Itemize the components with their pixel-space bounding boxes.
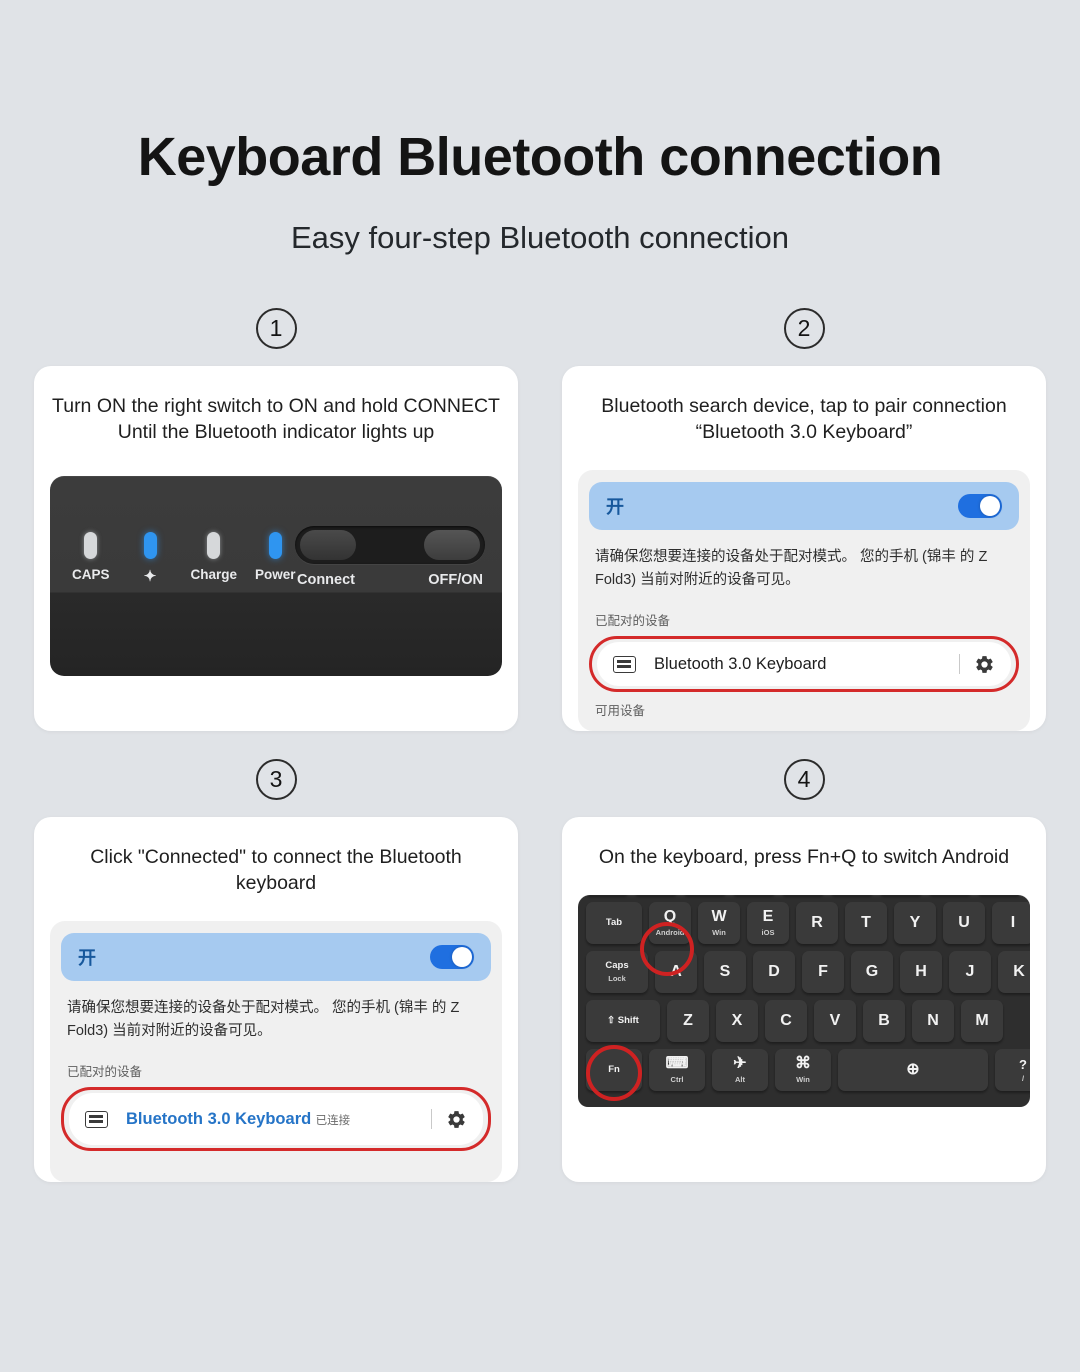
key-z[interactable]: Z xyxy=(667,1000,709,1042)
led-caps-label: CAPS xyxy=(72,567,110,582)
key-glyph: ✈ xyxy=(733,1056,746,1072)
key-q[interactable]: QAndroid xyxy=(649,902,691,944)
key-f[interactable]: F xyxy=(802,951,844,993)
step-card-1: Turn ON the right switch to ON and hold … xyxy=(34,366,518,731)
key-sublabel: iOS xyxy=(762,928,775,937)
key-glyph: I xyxy=(1011,915,1015,931)
led-bluetooth-light xyxy=(144,532,157,559)
key-h[interactable]: H xyxy=(900,951,942,993)
key-glyph: C xyxy=(780,1013,792,1029)
device-status-3: 已连接 xyxy=(316,1115,351,1127)
keyboard-row-zxcv: ⇧ ShiftZXCVBNM xyxy=(586,1000,1030,1042)
key-x[interactable]: X xyxy=(716,1000,758,1042)
key-glyph: Fn xyxy=(608,1065,620,1075)
step-2: 2 Bluetooth search device, tap to pair c… xyxy=(562,308,1046,731)
bluetooth-toggle-2[interactable] xyxy=(958,494,1002,518)
led-power: Power xyxy=(255,532,296,582)
key-glyph: Y xyxy=(910,915,921,931)
key-n[interactable]: N xyxy=(912,1000,954,1042)
key-glyph: ⇧ Shift xyxy=(607,1016,639,1026)
pairing-note-3: 请确保您想要连接的设备处于配对模式。 您的手机 (锦丰 的 Z Fold3) 当… xyxy=(61,997,491,1043)
key-glyph: H xyxy=(915,964,927,980)
keyboard-hardware-photo: CAPS ✦ Charge Power xyxy=(50,476,502,676)
key-caps[interactable]: CapsLock xyxy=(586,951,648,993)
step-4: 4 On the keyboard, press Fn+Q to switch … xyxy=(562,759,1046,1182)
key-k[interactable]: K xyxy=(998,951,1030,993)
key-m[interactable]: M xyxy=(961,1000,1003,1042)
step-1-instruction: Turn ON the right switch to ON and hold … xyxy=(48,394,504,445)
available-devices-label-2: 可用设备 xyxy=(589,700,1019,729)
key-[interactable]: ⊕ xyxy=(838,1049,988,1091)
key-sublabel: Lock xyxy=(608,974,626,983)
key-glyph: D xyxy=(768,964,780,980)
bluetooth-icon: ✦ xyxy=(144,567,157,585)
gear-icon-3[interactable] xyxy=(446,1109,467,1130)
key-y[interactable]: Y xyxy=(894,902,936,944)
step-badge-1: 1 xyxy=(256,308,297,349)
keyboard-icon-3 xyxy=(85,1111,108,1128)
key-glyph: Caps xyxy=(605,961,628,971)
key-i[interactable]: I xyxy=(992,902,1030,944)
led-power-light xyxy=(269,532,282,559)
connect-button-knob[interactable] xyxy=(300,530,356,560)
key-glyph: Q xyxy=(664,909,676,925)
paired-devices-label-2: 已配对的设备 xyxy=(589,610,1019,629)
page-subtitle: Easy four-step Bluetooth connection xyxy=(0,220,1080,256)
phone-mock-2: 开 请确保您想要连接的设备处于配对模式。 您的手机 (锦丰 的 Z Fold3)… xyxy=(578,470,1030,732)
led-caps: CAPS xyxy=(72,532,110,582)
paired-devices-label-3: 已配对的设备 xyxy=(61,1061,491,1080)
key-e[interactable]: EiOS xyxy=(747,902,789,944)
page-root: Keyboard Bluetooth connection Easy four-… xyxy=(0,0,1080,1372)
key-tab[interactable]: Tab xyxy=(586,902,642,944)
key-glyph: F xyxy=(818,964,828,980)
device-names-3: Bluetooth 3.0 Keyboard 已连接 xyxy=(126,1110,431,1129)
device-name-3: Bluetooth 3.0 Keyboard xyxy=(126,1110,311,1128)
key-shift[interactable]: ⇧ Shift xyxy=(586,1000,660,1042)
row-divider-3 xyxy=(431,1109,432,1129)
switch-labels: Connect OFF/ON xyxy=(295,572,485,588)
key-glyph: V xyxy=(830,1013,841,1029)
step-badge-3: 3 xyxy=(256,759,297,800)
key-glyph: ? xyxy=(1019,1058,1027,1071)
led-charge-light xyxy=(207,532,220,559)
key-b[interactable]: B xyxy=(863,1000,905,1042)
keyboard-photo-step4: F1F2F3F4F5F6F7F8F9F10 TabQAndroidWWinEiO… xyxy=(578,895,1030,1107)
key-j[interactable]: J xyxy=(949,951,991,993)
toggle-knob-3 xyxy=(452,947,472,967)
key-glyph: R xyxy=(811,915,823,931)
key-sublabel: Win xyxy=(712,928,726,937)
switch-track[interactable] xyxy=(295,526,485,564)
key-[interactable]: ⌨Ctrl xyxy=(649,1049,705,1091)
led-caps-light xyxy=(84,532,97,559)
step-2-instruction: Bluetooth search device, tap to pair con… xyxy=(597,394,1010,445)
keyboard-row-qwerty: TabQAndroidWWinEiOSRTYUI xyxy=(586,902,1030,944)
key-r[interactable]: R xyxy=(796,902,838,944)
phone-mock-3: 开 请确保您想要连接的设备处于配对模式。 您的手机 (锦丰 的 Z Fold3)… xyxy=(50,921,502,1183)
paired-device-highlight-3: Bluetooth 3.0 Keyboard 已连接 xyxy=(61,1087,491,1151)
paired-device-highlight-2: Bluetooth 3.0 Keyboard xyxy=(589,636,1019,692)
step-3: 3 Click "Connected" to connect the Bluet… xyxy=(34,759,518,1182)
key-s[interactable]: S xyxy=(704,951,746,993)
key-glyph: K xyxy=(1013,964,1025,980)
key-glyph: Z xyxy=(683,1013,693,1029)
toggle-knob-2 xyxy=(980,496,1000,516)
step-card-4: On the keyboard, press Fn+Q to switch An… xyxy=(562,817,1046,1182)
key-glyph: T xyxy=(861,915,871,931)
led-charge: Charge xyxy=(191,532,238,582)
key-sublabel: Ctrl xyxy=(671,1075,684,1084)
key-glyph: J xyxy=(966,964,975,980)
device-names-2: Bluetooth 3.0 Keyboard xyxy=(654,655,959,674)
key-sublabel: Win xyxy=(796,1075,810,1084)
key-glyph: W xyxy=(711,909,726,925)
page-header: Keyboard Bluetooth connection Easy four-… xyxy=(0,0,1080,256)
key-glyph: N xyxy=(927,1013,939,1029)
key-sublabel: Alt xyxy=(735,1075,745,1084)
step-card-3: Click "Connected" to connect the Bluetoo… xyxy=(34,817,518,1182)
key-sublabel: Android xyxy=(656,928,685,937)
onoff-label: OFF/ON xyxy=(428,572,483,588)
keyboard-row-modifiers: Fn⌨Ctrl✈Alt⌘Win⊕?/ xyxy=(586,1049,1030,1091)
bluetooth-banner-label-3: 开 xyxy=(78,944,96,970)
key-glyph: Tab xyxy=(606,918,622,928)
keyboard-keys: F1F2F3F4F5F6F7F8F9F10 TabQAndroidWWinEiO… xyxy=(586,895,1030,1098)
key-glyph: M xyxy=(975,1013,988,1029)
bluetooth-toggle-3[interactable] xyxy=(430,945,474,969)
key-sublabel: / xyxy=(1022,1074,1024,1083)
key-glyph: B xyxy=(878,1013,890,1029)
page-title: Keyboard Bluetooth connection xyxy=(0,128,1080,186)
key-glyph: E xyxy=(763,909,774,925)
key-glyph: G xyxy=(866,964,878,980)
key-t[interactable]: T xyxy=(845,902,887,944)
key-a[interactable]: A xyxy=(655,951,697,993)
key-glyph: X xyxy=(732,1013,743,1029)
step-3-instruction: Click "Connected" to connect the Bluetoo… xyxy=(48,845,504,896)
key-g[interactable]: G xyxy=(851,951,893,993)
bluetooth-banner-2[interactable]: 开 xyxy=(589,482,1019,530)
key-fn[interactable]: Fn xyxy=(586,1049,642,1091)
key-[interactable]: ?/ xyxy=(995,1049,1030,1091)
key-[interactable]: ✈Alt xyxy=(712,1049,768,1091)
bluetooth-banner-label-2: 开 xyxy=(606,493,624,519)
gear-icon-2[interactable] xyxy=(974,654,995,675)
key-glyph: ⊕ xyxy=(906,1062,919,1078)
key-glyph: ⌨ xyxy=(665,1056,688,1072)
step-4-instruction: On the keyboard, press Fn+Q to switch An… xyxy=(595,845,1013,871)
step-1: 1 Turn ON the right switch to ON and hol… xyxy=(34,308,518,731)
row-divider-2 xyxy=(959,654,960,674)
led-indicator-row: CAPS ✦ Charge Power xyxy=(72,532,296,585)
keyboard-icon-2 xyxy=(613,656,636,673)
onoff-slider-knob[interactable] xyxy=(424,530,480,560)
key-d[interactable]: D xyxy=(753,951,795,993)
device-name-2: Bluetooth 3.0 Keyboard xyxy=(654,655,826,673)
step-badge-4: 4 xyxy=(784,759,825,800)
key-glyph: ⌘ xyxy=(795,1056,811,1072)
device-row-2[interactable]: Bluetooth 3.0 Keyboard xyxy=(597,642,1011,686)
switch-zone: Connect OFF/ON xyxy=(295,526,485,588)
led-bluetooth: ✦ xyxy=(144,532,157,585)
key-v[interactable]: V xyxy=(814,1000,856,1042)
device-row-3[interactable]: Bluetooth 3.0 Keyboard 已连接 xyxy=(69,1093,483,1145)
key-glyph: U xyxy=(958,915,970,931)
step-badge-2: 2 xyxy=(784,308,825,349)
steps-grid: 1 Turn ON the right switch to ON and hol… xyxy=(0,308,1080,1182)
key-glyph: A xyxy=(670,964,682,980)
pairing-note-2: 请确保您想要连接的设备处于配对模式。 您的手机 (锦丰 的 Z Fold3) 当… xyxy=(589,546,1019,592)
key-w[interactable]: WWin xyxy=(698,902,740,944)
led-power-label: Power xyxy=(255,567,296,582)
key-u[interactable]: U xyxy=(943,902,985,944)
bluetooth-banner-3[interactable]: 开 xyxy=(61,933,491,981)
step-card-2: Bluetooth search device, tap to pair con… xyxy=(562,366,1046,731)
available-devices-label-3 xyxy=(61,1159,491,1169)
key-glyph: S xyxy=(720,964,731,980)
led-charge-label: Charge xyxy=(191,567,238,582)
connect-label: Connect xyxy=(297,572,355,588)
keyboard-row-asdf: CapsLockASDFGHJK xyxy=(586,951,1030,993)
key-[interactable]: ⌘Win xyxy=(775,1049,831,1091)
key-c[interactable]: C xyxy=(765,1000,807,1042)
